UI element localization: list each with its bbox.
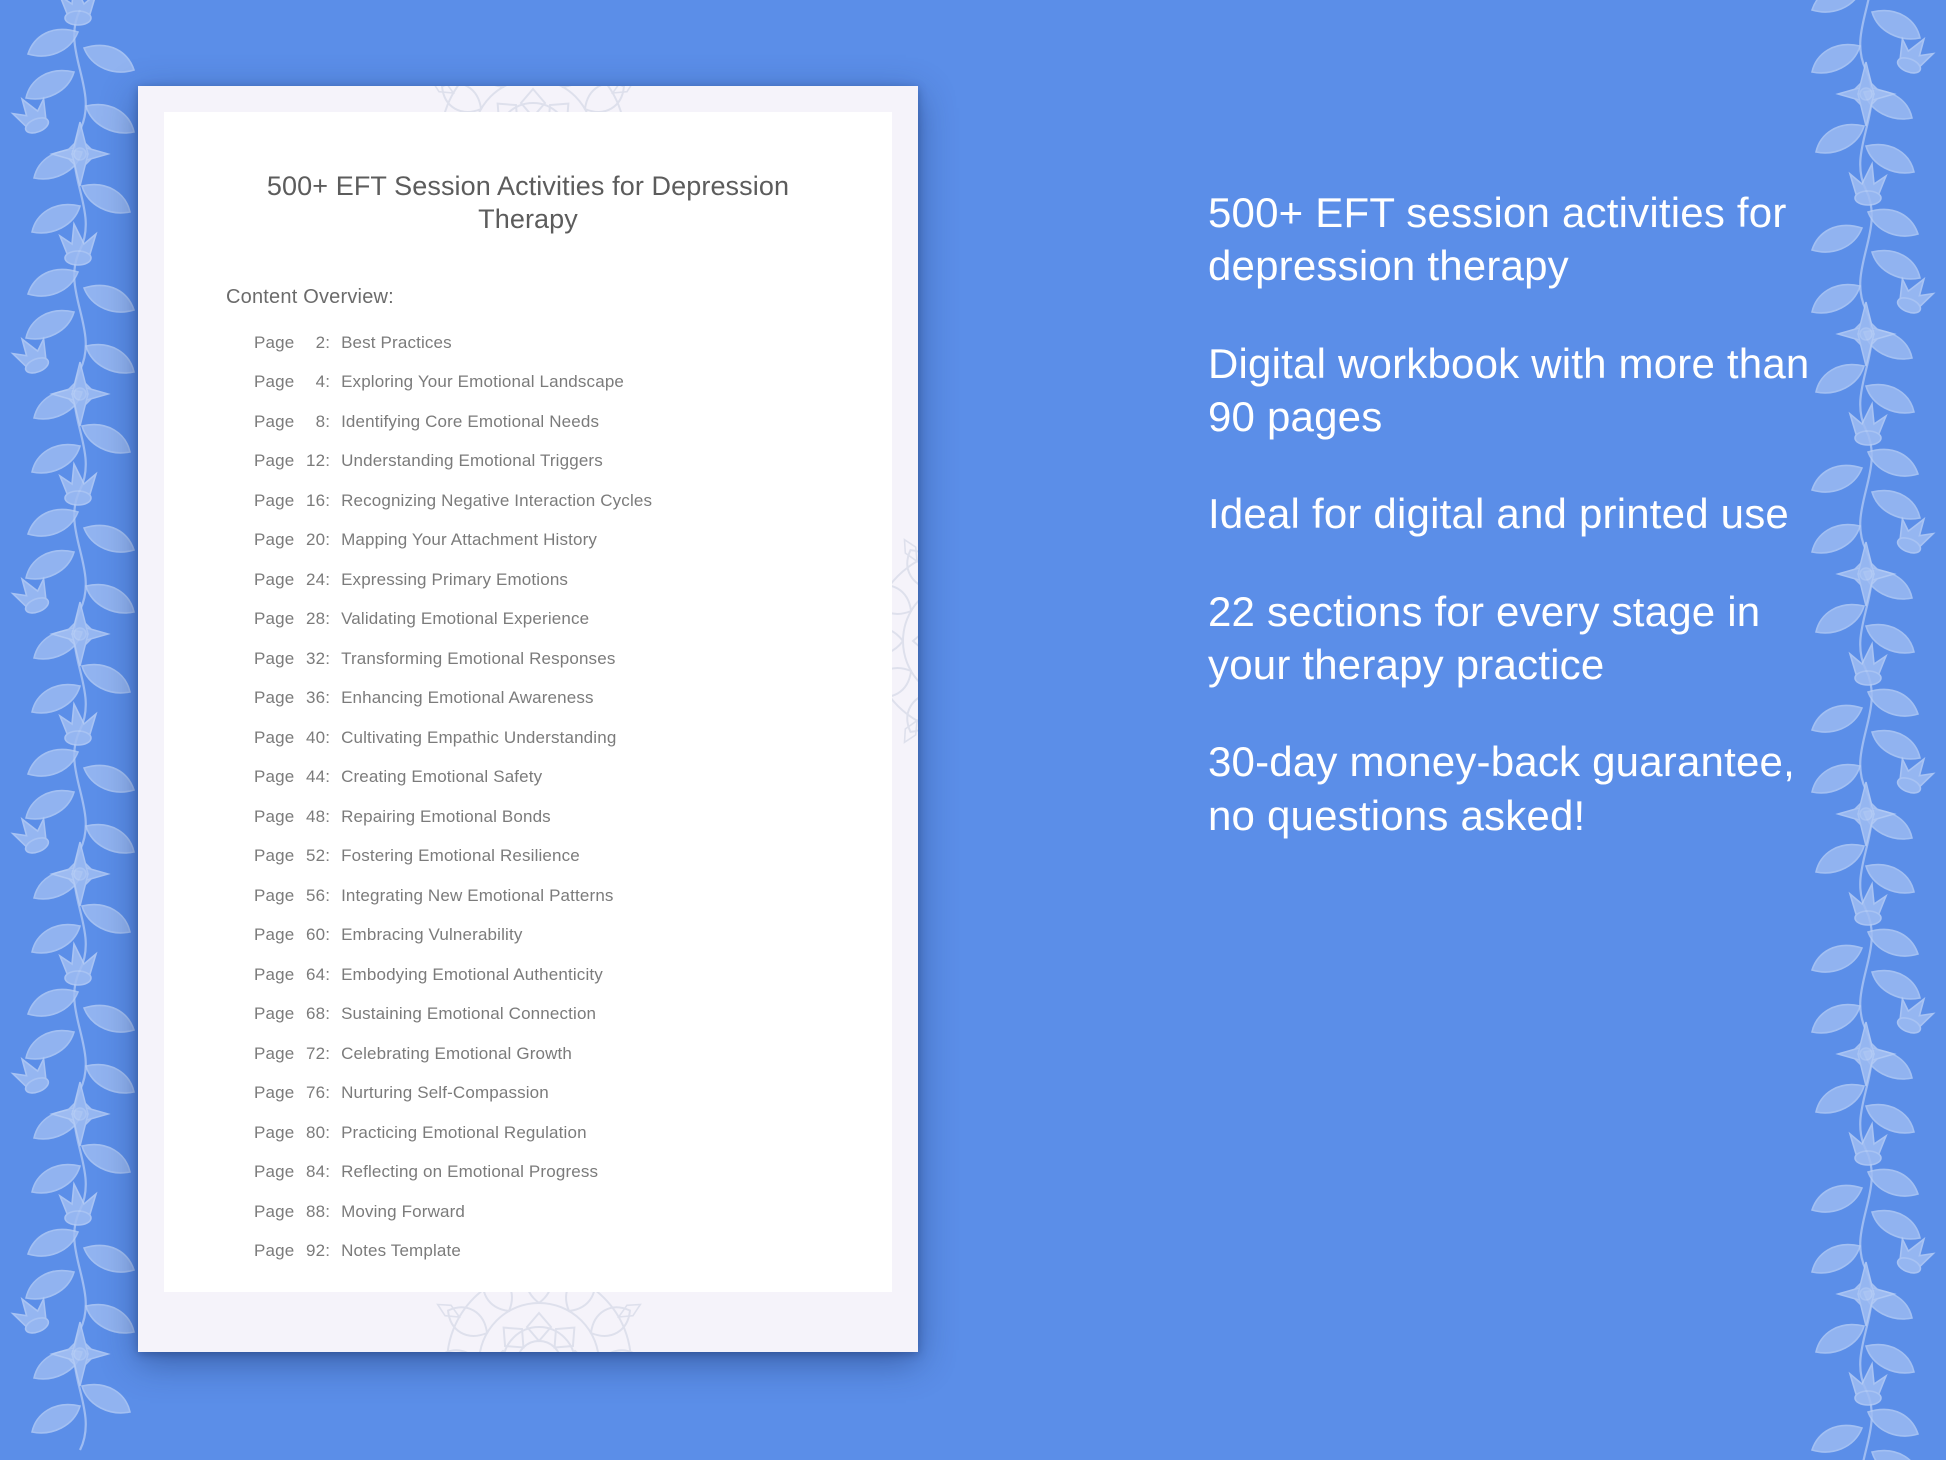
toc-page-label: Page: [254, 886, 294, 906]
toc-page-number: 64: [299, 965, 325, 985]
toc-colon: :: [325, 412, 341, 432]
toc-page-label: Page: [254, 451, 294, 471]
toc-page-number: 80: [299, 1123, 325, 1143]
toc-entry-title: Recognizing Negative Interaction Cycles: [341, 491, 652, 511]
toc-page-label: Page: [254, 530, 294, 550]
toc-colon: :: [325, 570, 341, 590]
toc-page-number: 28: [299, 609, 325, 629]
toc-colon: :: [325, 767, 341, 787]
toc-colon: :: [325, 609, 341, 629]
toc-entry-title: Practicing Emotional Regulation: [341, 1123, 587, 1143]
toc-page-label: Page: [254, 1004, 294, 1024]
document-page: 500+ EFT Session Activities for Depressi…: [164, 112, 892, 1292]
toc-colon: :: [325, 688, 341, 708]
toc-colon: :: [325, 1202, 341, 1222]
toc-entry[interactable]: Page 44:Creating Emotional Safety: [254, 767, 836, 807]
toc-entry-title: Expressing Primary Emotions: [341, 570, 568, 590]
toc-entry[interactable]: Page 80:Practicing Emotional Regulation: [254, 1123, 836, 1163]
toc-entry-title: Notes Template: [341, 1241, 461, 1261]
toc-entry-title: Enhancing Emotional Awareness: [341, 688, 594, 708]
toc-colon: :: [325, 728, 341, 748]
toc-entry[interactable]: Page 56:Integrating New Emotional Patter…: [254, 886, 836, 926]
toc-entry[interactable]: Page 72:Celebrating Emotional Growth: [254, 1044, 836, 1084]
toc-entry-title: Identifying Core Emotional Needs: [341, 412, 599, 432]
toc-page-label: Page: [254, 1241, 294, 1261]
toc-entry-title: Embodying Emotional Authenticity: [341, 965, 603, 985]
toc-entry-title: Best Practices: [341, 333, 452, 353]
toc-entry[interactable]: Page 36:Enhancing Emotional Awareness: [254, 688, 836, 728]
marketing-bullet: 30-day money-back guarantee, no question…: [1208, 735, 1828, 842]
page-title: 500+ EFT Session Activities for Depressi…: [220, 156, 836, 236]
toc-entry[interactable]: Page 68:Sustaining Emotional Connection: [254, 1004, 836, 1044]
toc-entry-title: Sustaining Emotional Connection: [341, 1004, 596, 1024]
toc-entry-title: Cultivating Empathic Understanding: [341, 728, 616, 748]
toc-page-label: Page: [254, 372, 294, 392]
toc-page-label: Page: [254, 1123, 294, 1143]
toc-page-number: 76: [299, 1083, 325, 1103]
toc-page-label: Page: [254, 1202, 294, 1222]
toc-page-label: Page: [254, 412, 294, 432]
toc-entry[interactable]: Page 12:Understanding Emotional Triggers: [254, 451, 836, 491]
toc-entry[interactable]: Page 88:Moving Forward: [254, 1202, 836, 1242]
toc-page-number: 68: [299, 1004, 325, 1024]
toc-page-label: Page: [254, 570, 294, 590]
toc-page-label: Page: [254, 965, 294, 985]
toc-colon: :: [325, 1162, 341, 1182]
toc-page-number: 2: [299, 333, 325, 353]
toc-page-number: 32: [299, 649, 325, 669]
toc-entry[interactable]: Page 4:Exploring Your Emotional Landscap…: [254, 372, 836, 412]
toc-colon: :: [325, 886, 341, 906]
toc-colon: :: [325, 451, 341, 471]
toc-entry-title: Transforming Emotional Responses: [341, 649, 615, 669]
toc-colon: :: [325, 1123, 341, 1143]
promo-graphic: 500+ EFT Session Activities for Depressi…: [0, 0, 1946, 1460]
toc-page-number: 24: [299, 570, 325, 590]
toc-page-label: Page: [254, 649, 294, 669]
toc-page-number: 84: [299, 1162, 325, 1182]
toc-page-label: Page: [254, 925, 294, 945]
toc-colon: :: [325, 1004, 341, 1024]
toc-page-number: 72: [299, 1044, 325, 1064]
toc-colon: :: [325, 491, 341, 511]
toc-entry-title: Creating Emotional Safety: [341, 767, 542, 787]
toc-entry[interactable]: Page 52:Fostering Emotional Resilience: [254, 846, 836, 886]
toc-page-number: 12: [299, 451, 325, 471]
toc-entry[interactable]: Page 48:Repairing Emotional Bonds: [254, 807, 836, 847]
toc-page-label: Page: [254, 688, 294, 708]
toc-page-number: 56: [299, 886, 325, 906]
toc-page-number: 52: [299, 846, 325, 866]
toc-entry-title: Embracing Vulnerability: [341, 925, 522, 945]
toc-page-label: Page: [254, 846, 294, 866]
toc-entry-title: Reflecting on Emotional Progress: [341, 1162, 598, 1182]
toc-entry[interactable]: Page 2:Best Practices: [254, 333, 836, 373]
document-preview-card[interactable]: 500+ EFT Session Activities for Depressi…: [138, 86, 918, 1352]
marketing-bullet: Digital workbook with more than 90 pages: [1208, 337, 1828, 444]
toc-page-number: 4: [299, 372, 325, 392]
toc-entry[interactable]: Page 28:Validating Emotional Experience: [254, 609, 836, 649]
toc-entry[interactable]: Page 84:Reflecting on Emotional Progress: [254, 1162, 836, 1202]
toc-page-number: 60: [299, 925, 325, 945]
toc-page-number: 88: [299, 1202, 325, 1222]
toc-colon: :: [325, 649, 341, 669]
toc-page-number: 48: [299, 807, 325, 827]
content-overview-label: Content Overview:: [226, 286, 836, 309]
toc-entry[interactable]: Page 92:Notes Template: [254, 1241, 836, 1281]
toc-page-label: Page: [254, 728, 294, 748]
toc-entry[interactable]: Page 40:Cultivating Empathic Understandi…: [254, 728, 836, 768]
toc-colon: :: [325, 1083, 341, 1103]
toc-entry[interactable]: Page 60:Embracing Vulnerability: [254, 925, 836, 965]
toc-page-number: 40: [299, 728, 325, 748]
toc-colon: :: [325, 1241, 341, 1261]
toc-page-number: 16: [299, 491, 325, 511]
toc-page-label: Page: [254, 1044, 294, 1064]
toc-page-label: Page: [254, 491, 294, 511]
toc-page-label: Page: [254, 333, 294, 353]
toc-entry-title: Repairing Emotional Bonds: [341, 807, 551, 827]
marketing-bullet-list: 500+ EFT session activities for depressi…: [1208, 186, 1828, 842]
toc-entry[interactable]: Page 32:Transforming Emotional Responses: [254, 649, 836, 689]
toc-colon: :: [325, 925, 341, 945]
toc-page-label: Page: [254, 1083, 294, 1103]
toc-page-number: 8: [299, 412, 325, 432]
toc-colon: :: [325, 1044, 341, 1064]
toc-colon: :: [325, 807, 341, 827]
toc-entry[interactable]: Page 24:Expressing Primary Emotions: [254, 570, 836, 610]
toc-page-number: 36: [299, 688, 325, 708]
toc-page-number: 44: [299, 767, 325, 787]
toc-page-number: 92: [299, 1241, 325, 1261]
toc-entry-title: Integrating New Emotional Patterns: [341, 886, 614, 906]
toc-page-label: Page: [254, 609, 294, 629]
toc-entry-title: Moving Forward: [341, 1202, 465, 1222]
toc-entry-title: Nurturing Self-Compassion: [341, 1083, 549, 1103]
toc-colon: :: [325, 530, 341, 550]
toc-entry[interactable]: Page 16:Recognizing Negative Interaction…: [254, 491, 836, 531]
toc-entry[interactable]: Page 64:Embodying Emotional Authenticity: [254, 965, 836, 1005]
marketing-bullet: Ideal for digital and printed use: [1208, 487, 1828, 540]
toc-page-label: Page: [254, 807, 294, 827]
marketing-bullet: 22 sections for every stage in your ther…: [1208, 585, 1828, 692]
marketing-bullet: 500+ EFT session activities for depressi…: [1208, 186, 1828, 293]
toc-entry[interactable]: Page 20:Mapping Your Attachment History: [254, 530, 836, 570]
toc-entry-title: Fostering Emotional Resilience: [341, 846, 580, 866]
toc-entry-title: Understanding Emotional Triggers: [341, 451, 603, 471]
toc-page-number: 20: [299, 530, 325, 550]
toc-entry[interactable]: Page 76:Nurturing Self-Compassion: [254, 1083, 836, 1123]
toc-entry-title: Validating Emotional Experience: [341, 609, 589, 629]
toc-entry-title: Mapping Your Attachment History: [341, 530, 597, 550]
toc-page-label: Page: [254, 1162, 294, 1182]
toc-colon: :: [325, 965, 341, 985]
toc-entry-title: Exploring Your Emotional Landscape: [341, 372, 624, 392]
toc-entry[interactable]: Page 8:Identifying Core Emotional Needs: [254, 412, 836, 452]
toc-colon: :: [325, 333, 341, 353]
toc-colon: :: [325, 846, 341, 866]
table-of-contents: Page 2:Best PracticesPage 4:Exploring Yo…: [220, 333, 836, 1281]
toc-colon: :: [325, 372, 341, 392]
toc-page-label: Page: [254, 767, 294, 787]
toc-entry-title: Celebrating Emotional Growth: [341, 1044, 572, 1064]
